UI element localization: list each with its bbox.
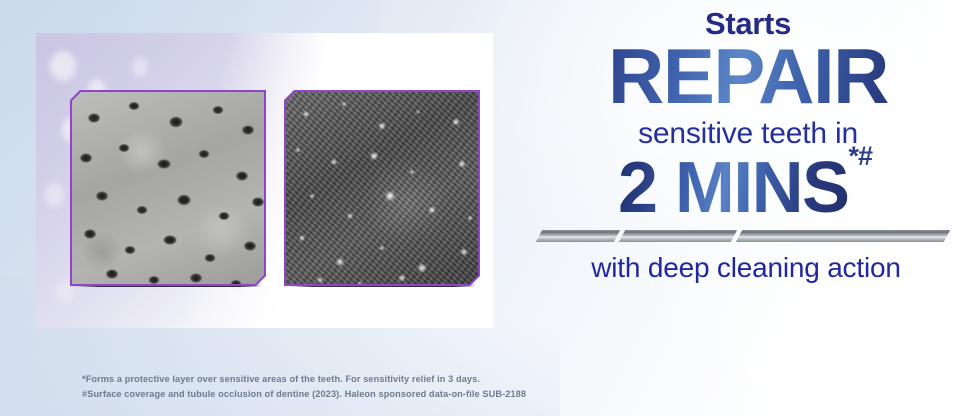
headline-line-deep-cleaning: with deep cleaning action [526, 251, 966, 285]
headline-line-repair: REPAIR [530, 39, 966, 113]
footnote-text: Surface coverage and tubule occlusion of… [87, 389, 526, 399]
micrograph-after-image [286, 92, 478, 284]
bokeh-decoration [50, 51, 76, 81]
bokeh-decoration [44, 183, 64, 207]
footnote-text: Forms a protective layer over sensitive … [86, 374, 480, 384]
headline-line-sensitive-teeth-in: sensitive teeth in [530, 116, 966, 152]
micrograph-panel [36, 33, 493, 328]
micrograph-before [70, 90, 266, 286]
occluded-surface-texture [286, 92, 478, 284]
open-tubules-texture [72, 92, 264, 284]
divider-segment [536, 230, 620, 242]
divider-segment [736, 230, 950, 242]
micrograph-after [284, 90, 480, 286]
micrograph-before-image [72, 92, 264, 284]
footnote-row: #Surface coverage and tubule occlusion o… [82, 387, 526, 402]
headline-block: Starts REPAIR sensitive teeth in 2 MINS*… [520, 6, 966, 322]
headline-line-2-mins: 2 MINS*# [618, 152, 872, 224]
metallic-divider [539, 230, 947, 242]
headline-2-mins-text: 2 MINS [618, 148, 848, 228]
promo-banner: Starts REPAIR sensitive teeth in 2 MINS*… [0, 0, 970, 416]
footnotes: *Forms a protective layer over sensitive… [82, 372, 526, 402]
bokeh-decoration [132, 57, 148, 77]
headline-footnote-markers: *# [848, 141, 872, 171]
divider-segment [619, 230, 737, 242]
footnote-row: *Forms a protective layer over sensitive… [82, 372, 526, 387]
